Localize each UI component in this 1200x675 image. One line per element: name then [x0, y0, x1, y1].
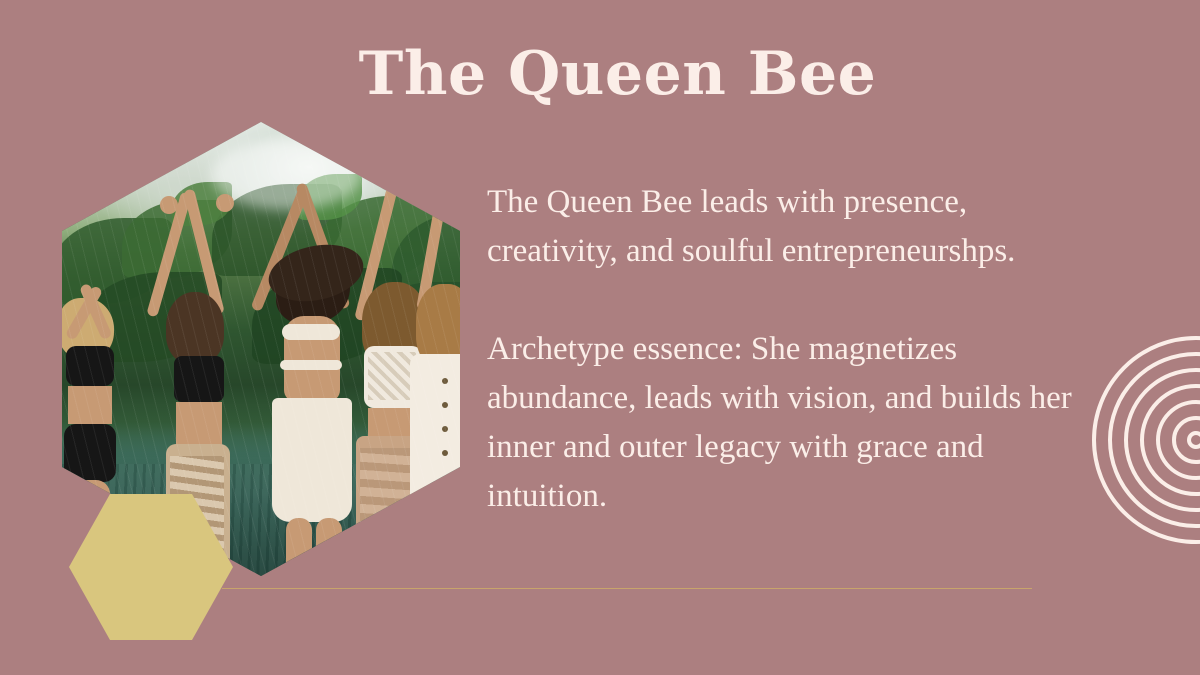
slide-canvas: The Queen Bee The Queen Bee leads with p… — [0, 0, 1200, 675]
page-title: The Queen Bee — [0, 44, 1200, 104]
paragraph-spacer — [487, 276, 1087, 325]
body-paragraph-2: Archetype essence: She magnetizes abunda… — [487, 325, 1087, 521]
body-copy: The Queen Bee leads with presence, creat… — [487, 178, 1087, 521]
body-paragraph-1: The Queen Bee leads with presence, creat… — [487, 178, 1087, 276]
concentric-rings-icon — [1092, 336, 1200, 544]
gold-divider-line — [222, 588, 1032, 589]
